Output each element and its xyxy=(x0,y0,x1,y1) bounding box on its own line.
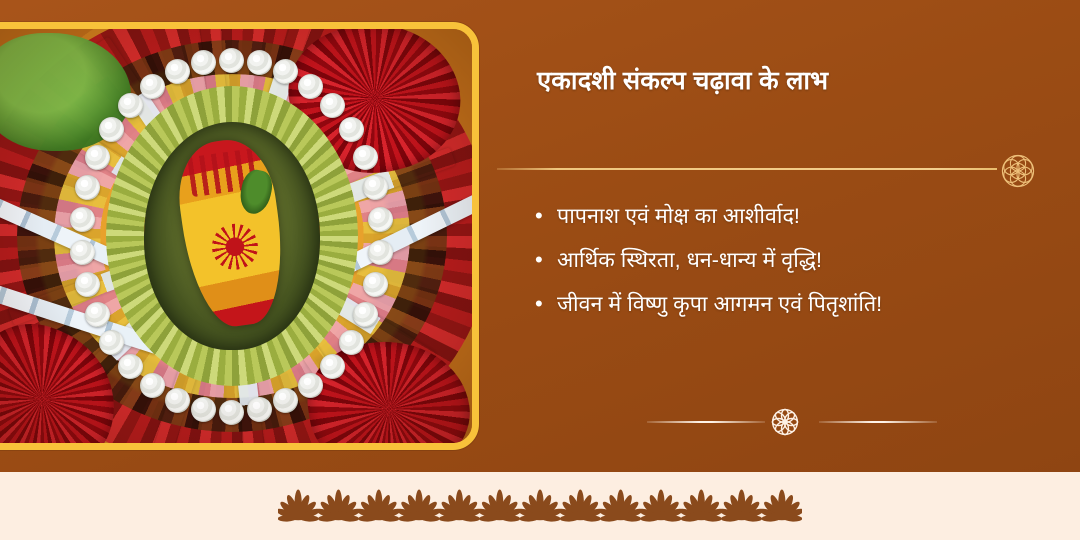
lotus-rosette-icon xyxy=(767,404,803,445)
lotus-motif xyxy=(678,490,724,522)
lotus-motif xyxy=(557,490,603,522)
banner-canvas: एकादशी संकल्प चढ़ावा के लाभ xyxy=(0,0,1080,540)
lotus-motif xyxy=(759,490,802,522)
lotus-motif xyxy=(638,490,684,522)
bullet-dot-icon: • xyxy=(535,196,557,236)
benefits-list: • पापनाश एवं मोक्ष का आशीर्वाद! • आर्थिक… xyxy=(535,196,1055,328)
photo-vignette xyxy=(0,29,472,443)
benefit-text: पापनाश एवं मोक्ष का आशीर्वाद! xyxy=(557,196,800,236)
list-item: • जीवन में विष्णु कृपा आगमन एवं पितृशांत… xyxy=(535,284,1055,324)
divider-line-right xyxy=(819,421,937,423)
lotus-motif xyxy=(517,490,563,522)
offering-photo-card[interactable] xyxy=(0,22,479,450)
divider-line-left xyxy=(647,421,765,423)
flower-of-life-rosette-icon xyxy=(995,148,1041,199)
lotus-motif xyxy=(396,490,442,522)
lotus-motif xyxy=(436,490,482,522)
page-title: एकादशी संकल्प चढ़ावा के लाभ xyxy=(537,66,1007,98)
lotus-motif xyxy=(718,490,764,522)
bottom-divider xyxy=(647,402,937,442)
gold-rule-line xyxy=(497,168,997,170)
list-item: • आर्थिक स्थिरता, धन-धान्य में वृद्धि! xyxy=(535,240,1055,280)
lotus-band-icon xyxy=(278,488,802,522)
footer-band xyxy=(0,472,1080,540)
content-column: एकादशी संकल्प चढ़ावा के लाभ xyxy=(497,0,1080,472)
lotus-motif xyxy=(315,490,361,522)
lotus-motif xyxy=(597,490,643,522)
benefit-text: आर्थिक स्थिरता, धन-धान्य में वृद्धि! xyxy=(557,240,822,280)
chhappan-bhog-photo xyxy=(0,29,472,443)
benefit-text: जीवन में विष्णु कृपा आगमन एवं पितृशांति! xyxy=(557,284,882,324)
bullet-dot-icon: • xyxy=(535,240,557,280)
list-item: • पापनाश एवं मोक्ष का आशीर्वाद! xyxy=(535,196,1055,236)
bullet-dot-icon: • xyxy=(535,284,557,324)
lotus-motif xyxy=(477,490,523,522)
title-underline-row xyxy=(497,150,1080,190)
lotus-motif xyxy=(356,490,402,522)
lotus-motif xyxy=(278,490,321,522)
